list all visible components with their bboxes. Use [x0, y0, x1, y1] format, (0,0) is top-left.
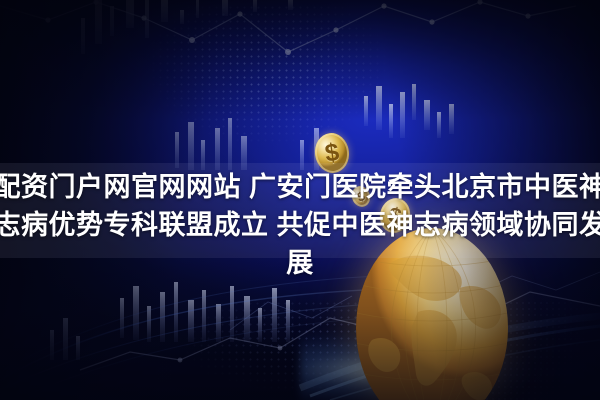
- vignette-top: [0, 0, 600, 120]
- news-banner: $ $ $ 配资门户网官网网站 广安门医院牵头北京市中医神志病优势专科联盟成立 …: [0, 0, 600, 400]
- headline-text: 配资门户网官网网站 广安门医院牵头北京市中医神志病优势专科联盟成立 共促中医神志…: [0, 168, 600, 282]
